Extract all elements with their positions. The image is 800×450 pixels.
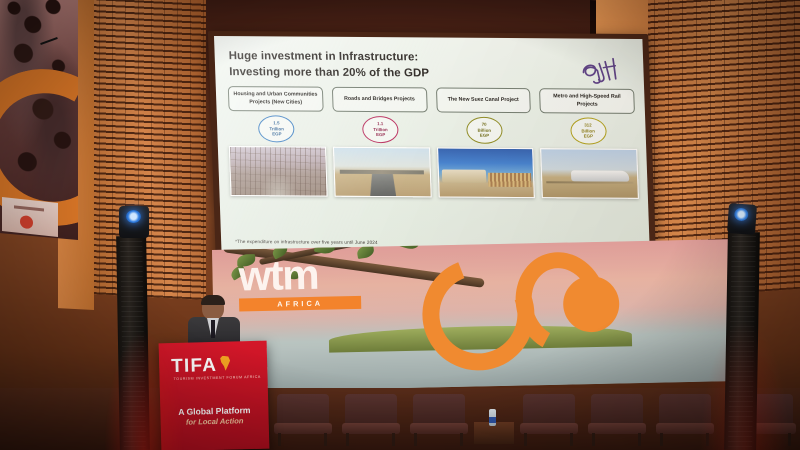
project-card: The New Suez Canal Project 70 Billion EG… [435,88,534,199]
high-speed-train-photo [540,148,639,199]
project-card: Housing and Urban Communities Projects (… [228,86,327,197]
wtm-logo-region: AFRICA [277,298,323,308]
amount-currency: EGP [376,132,385,137]
presentation-slide: Huge investment in Infrastructure: Inves… [214,36,650,257]
water-bottle [489,409,496,426]
moving-head-light-left [119,206,149,238]
aerial-new-city-photo [229,146,328,197]
conference-stage-photo: Huge investment in Infrastructure: Inves… [0,0,800,450]
chair-leg [414,433,417,446]
project-card-list: Housing and Urban Communities Projects (… [228,86,638,199]
project-card-amount: 1.5 Trillion EGP [258,115,295,142]
project-card-title: Metro and High-Speed Rail Projects [539,88,635,114]
project-card-title: Roads and Bridges Projects [332,87,428,113]
amount-currency: EGP [272,132,281,137]
projection-screen: Huge investment in Infrastructure: Inves… [214,36,650,257]
chair-leg [392,433,395,446]
slide-title: Huge investment in Infrastructure: Inves… [228,48,429,82]
wall-sign-small [2,197,58,237]
tifa-logo-subtitle: TOURISM INVESTMENT FORUM AFRICA [173,375,260,383]
slide-footnote: *The expenditure on infrastructure over … [235,239,378,245]
chair-leg [638,433,641,446]
chair-leg [460,433,463,446]
highway-bridges-photo [333,147,432,198]
stage-chair [340,394,402,446]
chair-leg [660,433,663,446]
chair-back [277,394,329,426]
amount-currency: EGP [480,133,489,138]
project-card-amount: 312 Billion EGP [570,117,607,144]
stage-chair [408,394,470,446]
stage-chair [518,394,580,446]
wtm-logo-word: wtm [238,255,361,296]
wtm-africa-backdrop: wtm AFRICA [212,239,737,392]
chair-back [591,394,643,426]
presenter-tie [211,320,215,338]
slide-title-line-1: Huge investment in Infrastructure: [228,48,428,66]
chair-back [345,394,397,426]
chair-back [523,394,575,426]
red-uplight-glow-left [104,330,184,450]
light-lens-icon [734,207,749,221]
project-card: Metro and High-Speed Rail Projects 312 B… [539,88,638,199]
amount-currency: EGP [584,134,593,139]
presenter-hair [201,295,225,305]
chair-leg [346,433,349,446]
moving-head-light-right [727,203,757,235]
project-card-title: The New Suez Canal Project [435,88,531,114]
stage-chair [272,394,334,446]
chair-leg [592,433,595,446]
project-card-amount: 70 Billion EGP [466,117,503,144]
chair-leg [324,433,327,446]
slide-title-line-2: Investing more than 20% of the GDP [229,64,429,82]
red-uplight-glow-right [700,320,790,450]
chair-leg [524,433,527,446]
wtm-logo: wtm AFRICA [238,255,361,311]
light-lens-icon [126,210,141,223]
project-card-title: Housing and Urban Communities Projects (… [228,86,324,112]
chair-leg [278,433,281,446]
wall-sign-logo-icon [20,215,33,229]
wall-sign-text-line [14,205,44,211]
chair-leg [570,433,573,446]
chair-back [413,394,465,426]
africa-map-icon [219,356,231,371]
suez-canal-container-ship-photo [437,147,536,198]
stage-chair [586,394,648,446]
project-card: Roads and Bridges Projects 1.1 Trillion … [332,87,431,198]
project-card-amount: 1.1 Trillion EGP [362,116,399,143]
egypt-signature-logo [579,55,626,85]
